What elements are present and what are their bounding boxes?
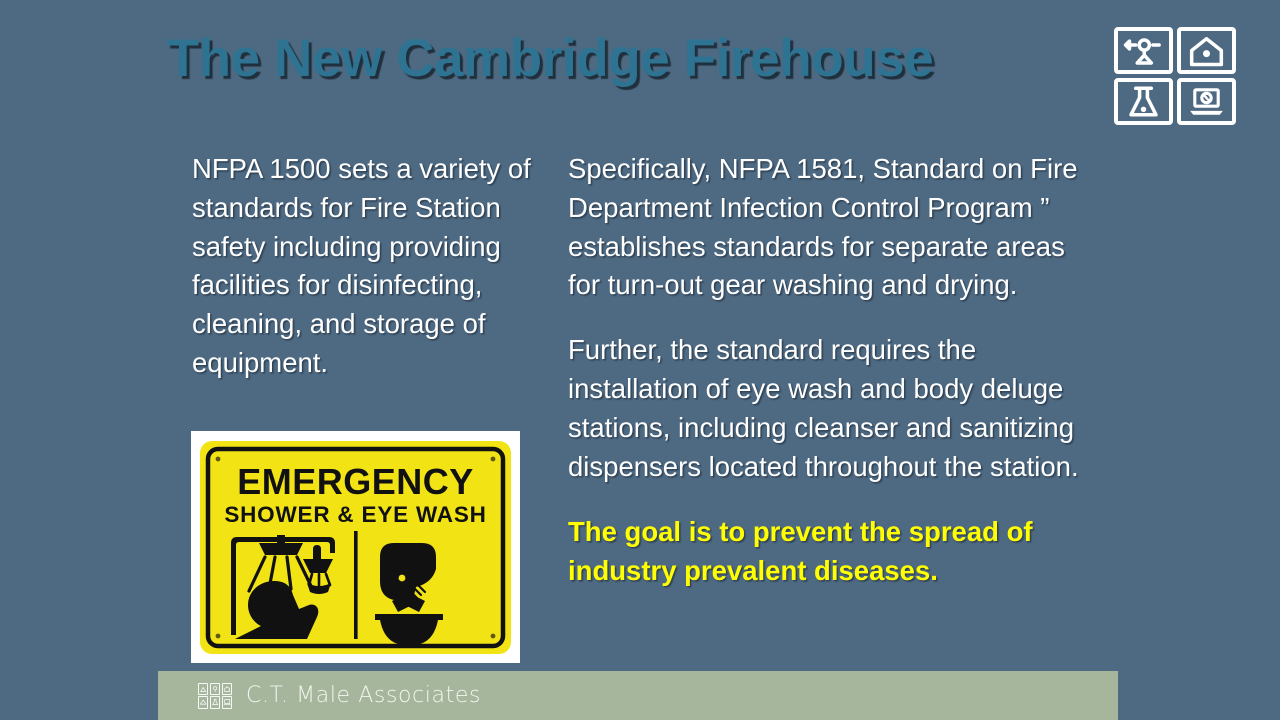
goal-statement: The goal is to prevent the spread of ind…	[568, 512, 1088, 590]
logo-cell-architecture	[1177, 27, 1236, 74]
logo-cell-environmental	[1114, 78, 1173, 125]
company-logo	[1114, 27, 1236, 125]
page-title: The New Cambridge Firehouse	[0, 28, 1100, 89]
surveyor-transit-icon	[1118, 31, 1169, 70]
footer-computer-icon	[222, 696, 232, 708]
svg-text:SHOWER & EYE WASH: SHOWER & EYE WASH	[224, 502, 486, 527]
left-paragraph: NFPA 1500 sets a variety of standards fo…	[192, 150, 537, 383]
flask-icon	[1118, 82, 1169, 121]
footer-logo	[198, 683, 232, 709]
footer-bridge-icon	[198, 696, 208, 708]
logo-cell-technology	[1177, 78, 1236, 125]
svg-text:EMERGENCY: EMERGENCY	[237, 461, 474, 502]
footer-bar: C.T. Male Associates	[158, 671, 1118, 720]
right-paragraph-2: Further, the standard requires the insta…	[568, 331, 1088, 486]
footer-company-name: C.T. Male Associates	[246, 683, 481, 708]
footer-gear-head-icon	[210, 683, 220, 695]
right-paragraph-1: Specifically, NFPA 1581, Standard on Fir…	[568, 150, 1088, 305]
emergency-shower-eye-wash-sign: EMERGENCY SHOWER & EYE WASH	[191, 431, 520, 663]
footer-flask-icon	[210, 696, 220, 708]
building-icon	[1181, 31, 1232, 70]
footer-surveyor-transit-icon	[198, 683, 208, 695]
footer-building-icon	[222, 683, 232, 695]
computer-globe-icon	[1181, 82, 1232, 121]
left-text-column: NFPA 1500 sets a variety of standards fo…	[192, 150, 537, 383]
logo-cell-surveying	[1114, 27, 1173, 74]
slide-canvas: The New Cambridge Firehouse	[0, 0, 1280, 720]
right-text-column: Specifically, NFPA 1581, Standard on Fir…	[568, 150, 1088, 590]
